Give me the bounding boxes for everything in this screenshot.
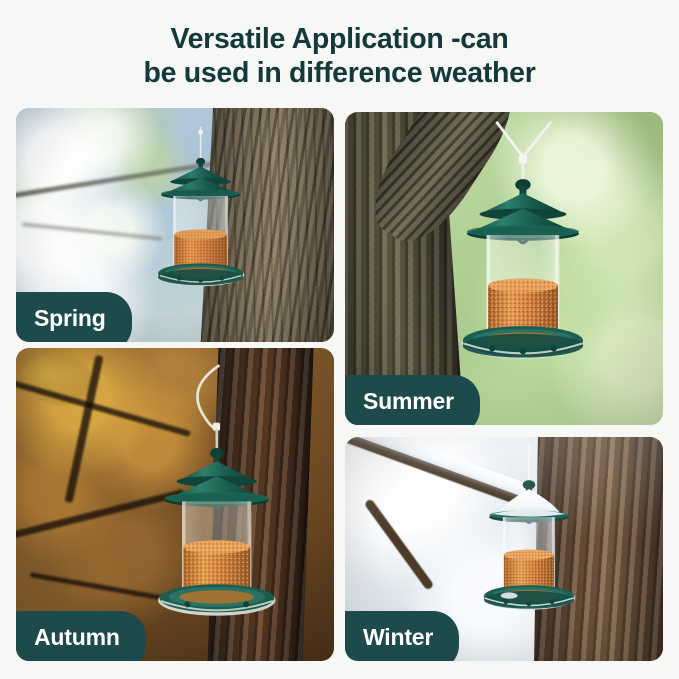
page-title: Versatile Application -can be used in di… [0,22,679,90]
season-panel-autumn[interactable]: Autumn [16,348,334,661]
season-badge-autumn: Autumn [16,611,146,661]
page-title-line-1: Versatile Application -can [0,22,679,56]
bird-feeder-product [137,127,264,310]
season-badge-summer: Summer [345,375,480,425]
season-badge-label: Winter [363,624,433,651]
season-badge-spring: Spring [16,292,132,342]
season-badge-label: Summer [363,388,454,415]
bird-feeder-product [150,354,284,617]
season-panel-winter[interactable]: Winter [345,437,663,661]
page-title-line-2: be used in difference weather [0,56,679,90]
season-panel-summer[interactable]: Summer [345,112,663,425]
bird-feeder-product [453,118,593,375]
season-badge-winter: Winter [345,611,459,661]
season-badge-label: Spring [34,305,106,332]
season-badge-label: Autumn [34,624,120,651]
season-panel-spring[interactable]: Spring [16,108,334,342]
